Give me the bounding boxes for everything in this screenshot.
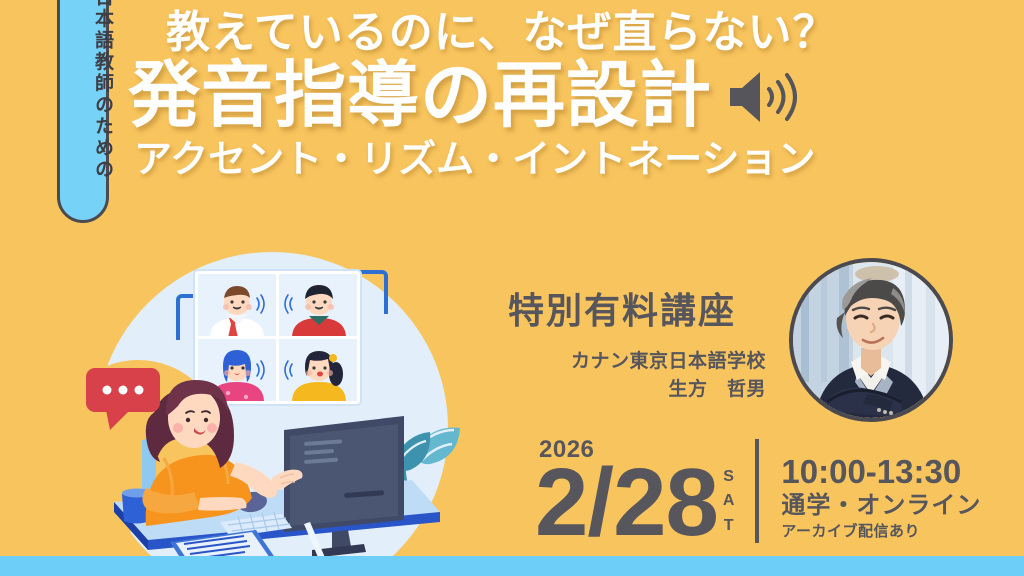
speaker-portrait-photo: [789, 258, 953, 422]
event-datetime-row: 2026 2/28 S A T 10:00-13:30 通学・オンライン アーカ…: [535, 425, 981, 545]
event-year: 2026: [539, 436, 594, 464]
date-block: 2026 2/28 S A T: [535, 436, 735, 545]
audience-badge-label: 日本語教師のための: [60, 0, 112, 181]
page-title: 発音指導の再設計: [128, 57, 712, 136]
online-lesson-illustration: [60, 250, 490, 570]
school-name: カナン東京日本語学校: [571, 346, 766, 373]
dow-char-2: A: [723, 489, 736, 514]
vertical-divider: [755, 439, 759, 543]
event-time: 10:00-13:30: [781, 454, 981, 491]
presenter-name: 生方 哲男: [668, 374, 766, 401]
event-mode: 通学・オンライン: [781, 491, 981, 521]
headline-subtitle: アクセント・リズム・イントネーション: [134, 138, 1008, 184]
audience-badge: 日本語教師のための: [57, 0, 109, 223]
speaker-volume-icon: [726, 66, 798, 133]
dow-char-3: T: [724, 514, 735, 539]
schedule-block: 10:00-13:30 通学・オンライン アーカイブ配信あり: [781, 454, 981, 541]
headline-block: 教えているのに、なぜ直らない？ 発音指導の再設計 アクセント・リズム・イントネー…: [128, 8, 1008, 183]
event-day-of-week: S A T: [723, 465, 736, 539]
headline-question: 教えているのに、なぜ直らない？: [128, 8, 1008, 59]
poster-canvas: 日本語教師のための 教えているのに、なぜ直らない？ 発音指導の再設計 アクセント…: [0, 0, 1024, 576]
dow-char-1: S: [723, 465, 735, 490]
event-month-day: 2/28: [535, 462, 718, 545]
bottom-accent-bar: [0, 556, 1024, 576]
course-type-label: 特別有料講座: [508, 293, 736, 329]
archive-note: アーカイブ配信あり: [781, 522, 981, 542]
